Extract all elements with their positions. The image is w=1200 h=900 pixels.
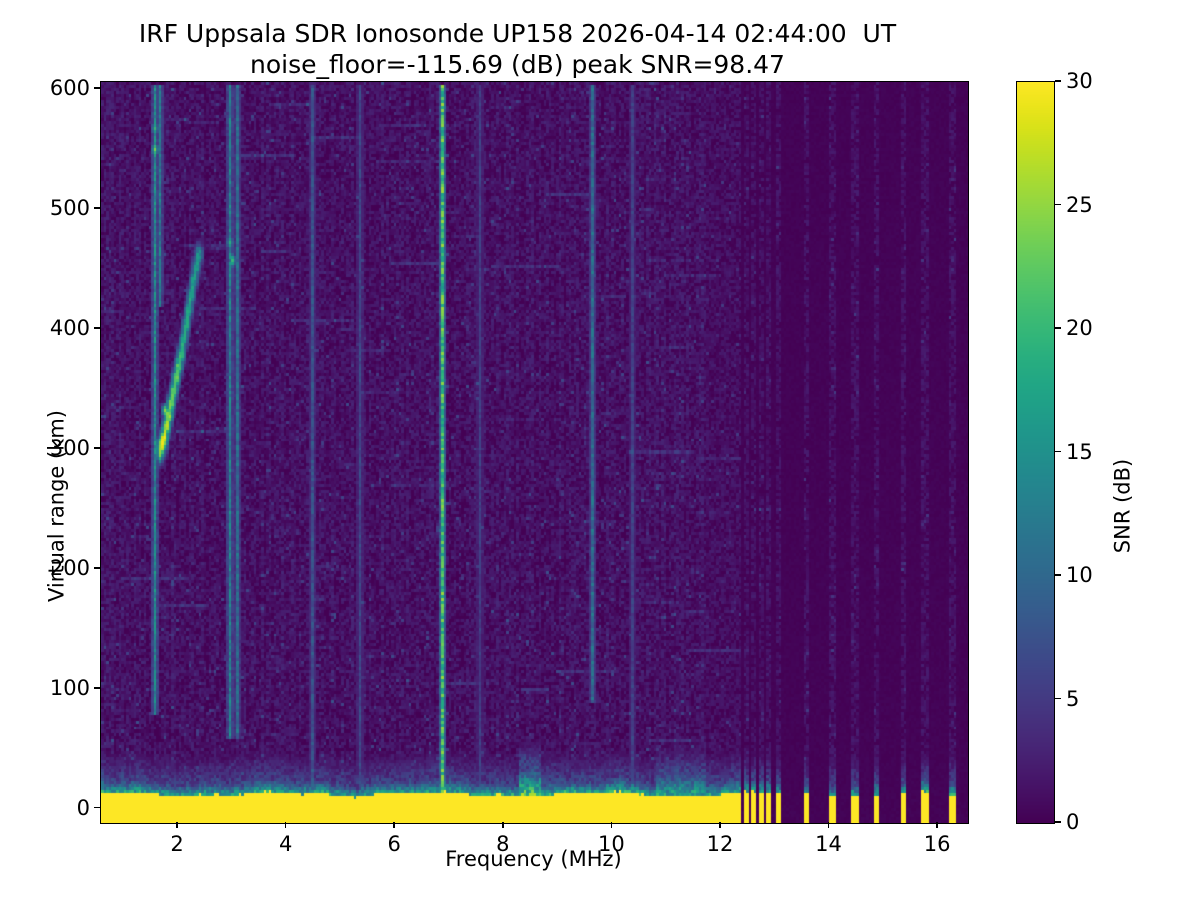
colorbar-tick-mark bbox=[1055, 821, 1061, 823]
ionogram-figure: IRF Uppsala SDR Ionosonde UP158 2026-04-… bbox=[0, 0, 1200, 900]
colorbar-tick-mark bbox=[1055, 698, 1061, 700]
x-tick-mark bbox=[502, 822, 504, 828]
y-tick-mark bbox=[94, 567, 100, 569]
y-tick-mark bbox=[94, 687, 100, 689]
ionogram-heatmap bbox=[101, 82, 968, 823]
y-tick-mark bbox=[94, 807, 100, 809]
x-tick-mark bbox=[285, 822, 287, 828]
colorbar-tick-mark bbox=[1055, 451, 1061, 453]
title-line-2: noise_floor=-115.69 (dB) peak SNR=98.47 bbox=[0, 49, 1035, 80]
x-tick-mark bbox=[936, 822, 938, 828]
y-tick-mark bbox=[94, 327, 100, 329]
colorbar-tick-mark bbox=[1055, 574, 1061, 576]
x-tick-mark bbox=[176, 822, 178, 828]
colorbar-gradient bbox=[1017, 82, 1054, 823]
x-tick-mark bbox=[828, 822, 830, 828]
colorbar-tick-mark bbox=[1055, 80, 1061, 82]
colorbar-tick-label: 0 bbox=[1066, 809, 1079, 835]
colorbar-tick-label: 10 bbox=[1066, 562, 1093, 588]
colorbar-tick-label: 30 bbox=[1066, 68, 1093, 94]
colorbar-tick-mark bbox=[1055, 327, 1061, 329]
x-tick-mark bbox=[611, 822, 613, 828]
ionogram-plot-area bbox=[100, 81, 969, 824]
x-tick-mark bbox=[393, 822, 395, 828]
colorbar-tick-label: 15 bbox=[1066, 439, 1093, 465]
y-axis-label: Virtual range (km) bbox=[45, 136, 69, 877]
colorbar-tick-mark bbox=[1055, 204, 1061, 206]
colorbar-tick-label: 20 bbox=[1066, 315, 1093, 341]
figure-title: IRF Uppsala SDR Ionosonde UP158 2026-04-… bbox=[0, 18, 1035, 80]
colorbar-label: SNR (dB) bbox=[1111, 136, 1135, 877]
colorbar-tick-label: 25 bbox=[1066, 192, 1093, 218]
x-tick-mark bbox=[719, 822, 721, 828]
colorbar-tick-label: 5 bbox=[1066, 686, 1079, 712]
x-axis-label: Frequency (MHz) bbox=[100, 847, 967, 871]
colorbar bbox=[1016, 81, 1055, 824]
y-tick-mark bbox=[94, 447, 100, 449]
y-tick-label: 600 bbox=[0, 75, 90, 101]
y-tick-mark bbox=[94, 207, 100, 209]
y-tick-mark bbox=[94, 87, 100, 89]
title-line-1: IRF Uppsala SDR Ionosonde UP158 2026-04-… bbox=[0, 18, 1035, 49]
